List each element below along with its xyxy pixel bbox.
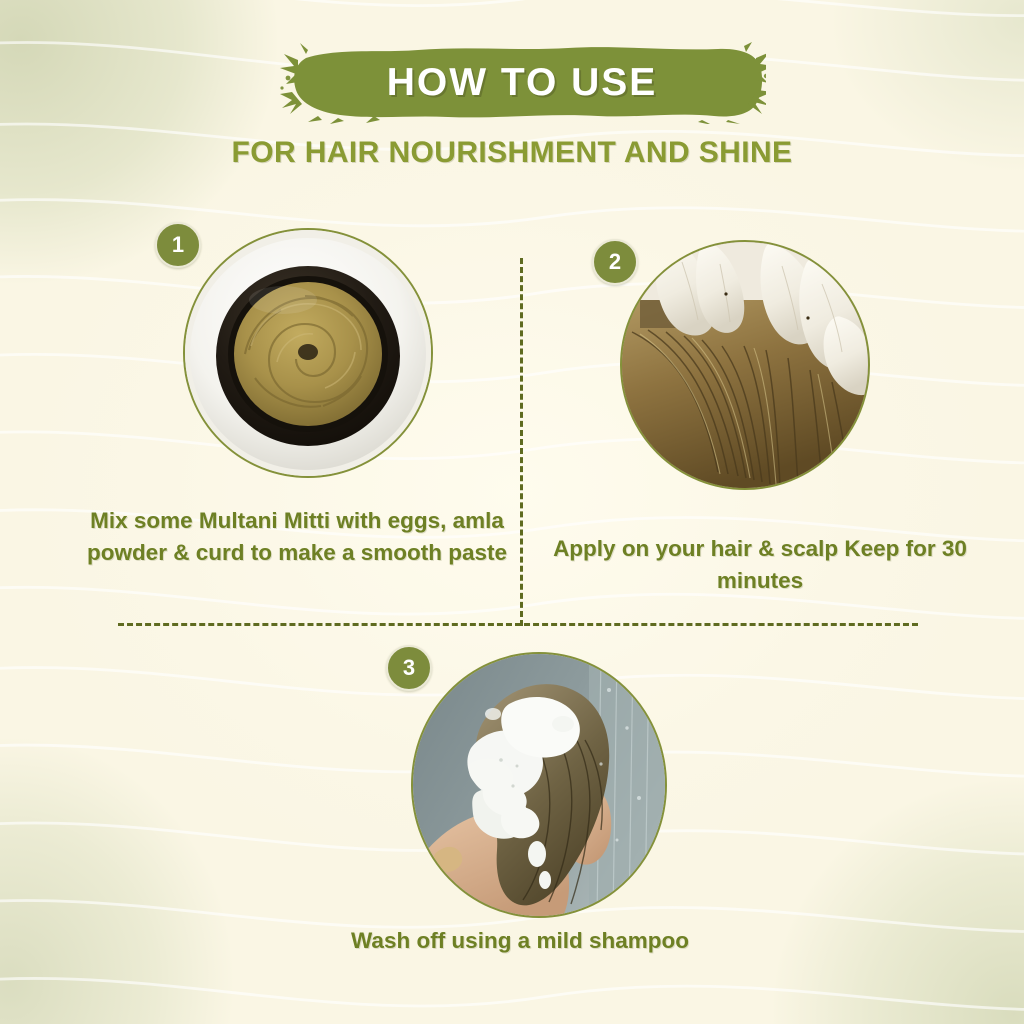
page-subtitle: FOR HAIR NOURISHMENT AND SHINE xyxy=(0,136,1024,170)
step-3-caption: Wash off using a mild shampoo xyxy=(330,925,710,957)
step-2-image xyxy=(620,240,870,490)
step-2-number-badge: 2 xyxy=(592,239,638,285)
step-1-number-badge: 1 xyxy=(155,222,201,268)
step-1-caption: Mix some Multani Mitti with eggs, amla p… xyxy=(62,505,532,568)
vertical-dashed-divider xyxy=(520,258,523,626)
step-1-image xyxy=(183,228,433,478)
gloved-hands-applying-paste-illustration xyxy=(622,242,868,488)
page-title: HOW TO USE xyxy=(278,42,766,124)
how-to-use-infographic: HOW TO USE FOR HAIR NOURISHMENT AND SHIN… xyxy=(0,0,1024,1024)
step-2-caption: Apply on your hair & scalp Keep for 30 m… xyxy=(540,533,980,596)
washing-hair-illustration xyxy=(413,654,665,916)
step-3-image xyxy=(411,652,667,918)
bowl-of-paste-illustration xyxy=(185,230,431,476)
horizontal-dashed-divider xyxy=(118,623,918,626)
step-3-number-badge: 3 xyxy=(386,645,432,691)
